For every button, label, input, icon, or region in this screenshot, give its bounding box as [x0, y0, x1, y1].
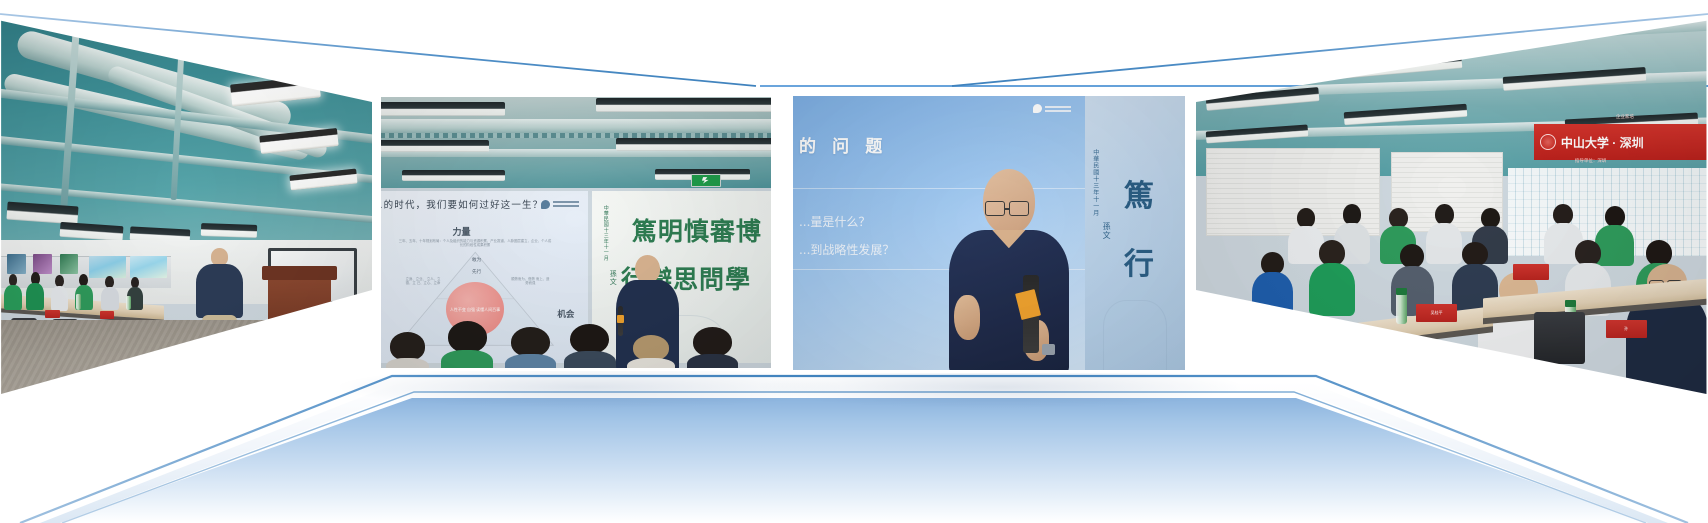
poster: [7, 254, 26, 274]
gallery-slide-3[interactable]: 的 问 题 ...量是什么？ ...到战略性发展？ 中華民國十三年十一月 篤 行…: [790, 93, 1188, 373]
audience-person: [100, 276, 119, 310]
ceiling-lamp: [596, 98, 774, 112]
podium: [268, 272, 331, 360]
calligraphy-signature: 孫文: [1101, 222, 1112, 240]
nameplate: [45, 310, 60, 318]
slide-logo: [1033, 104, 1071, 113]
slide-logo: [541, 200, 579, 209]
glasses-bridge-icon: [1004, 208, 1010, 210]
chair: [1360, 336, 1411, 392]
diagram-top-label: 力量: [452, 225, 470, 238]
audience-head: [627, 335, 675, 371]
audience-person: [1309, 240, 1355, 316]
gesturing-hand: [954, 295, 980, 340]
logo-bars-icon: [553, 201, 579, 207]
calligraphy-vertical-text: 中華民國十三年十一月: [603, 205, 610, 261]
wristwatch: [1042, 344, 1055, 354]
audience-person: [1252, 252, 1293, 320]
instructor: [193, 248, 245, 384]
calligraphy-line-1: 篤明慎審博: [632, 212, 762, 248]
wall-mural: [89, 256, 126, 278]
audience-head: [687, 327, 738, 371]
calligraphy-line-2: 行: [1124, 239, 1155, 283]
audience-seated-photo: 中山大学 · 深圳 企业家培 指导单位：深圳: [1196, 8, 1708, 408]
ceiling-lamp: [378, 102, 505, 116]
podium-top: [262, 266, 336, 280]
carpet-floor: [0, 320, 372, 408]
diagram-right-small: 顺势而为、借势 而上、造势而强: [511, 277, 550, 286]
slide-heading: 的 问 题: [799, 132, 887, 157]
ceiling-lamp: [378, 140, 489, 152]
water-bottle: [126, 296, 130, 310]
classroom-wide-shot-photo: [0, 8, 372, 408]
gallery-slide-2[interactable]: ...的时代，我们要如何过好这一生？ 力量 三年、五年、十年规划布局：个人及组织…: [378, 94, 774, 371]
ceiling-lamp: [201, 223, 257, 238]
gallery-slide-1[interactable]: [0, 8, 372, 408]
poster: [33, 254, 52, 274]
logo-mark-icon: [1033, 104, 1042, 113]
water-bottle: [76, 294, 80, 310]
calligraphy-arch-outline: [1103, 300, 1167, 373]
diagram-mid-label-2: 先行: [459, 269, 495, 275]
diagram-right-label: 机会: [557, 308, 574, 320]
speaker-closeup-photo: 的 问 题 ...量是什么？ ...到战略性发展？ 中華民國十三年十一月 篤 行…: [790, 93, 1188, 373]
banner-subtitle-right: 指导单位：深圳: [1575, 158, 1607, 164]
slide-title: ...的时代，我们要如何过好这一生？: [378, 197, 543, 211]
nameplate: [1513, 264, 1549, 280]
glasses-right-icon: [1009, 201, 1029, 215]
ceiling-lamp: [616, 138, 774, 150]
bottle-cap: [1565, 300, 1576, 307]
university-seal-icon: [1540, 134, 1556, 150]
speaker: [949, 169, 1068, 373]
poster: [60, 254, 79, 274]
bottle-cap: [1283, 344, 1295, 352]
calligraphy-vertical-text: 中華民國十三年十一月: [1091, 149, 1100, 216]
diagram-mid-label-1: 敢为: [459, 257, 495, 263]
nameplate: 游小龙: [1309, 360, 1355, 380]
desk-edge: [1268, 326, 1493, 360]
slide-line-2: ...到战略性发展？: [799, 241, 894, 258]
calligraphy-line-1: 篤: [1124, 171, 1155, 215]
water-bottle: [1283, 348, 1295, 384]
audience-person: [50, 275, 69, 311]
nameplate: 吴桂平: [1416, 304, 1457, 322]
audience-person: [26, 272, 45, 310]
chair: [1534, 312, 1585, 364]
gallery-stage: ...的时代，我们要如何过好这一生？ 力量 三年、五年、十年规划布局：个人及组织…: [0, 0, 1708, 523]
speaker-at-screen-photo: ...的时代，我们要如何过好这一生？ 力量 三年、五年、十年规划布局：个人及组织…: [378, 94, 774, 371]
audience-head: [441, 321, 492, 371]
event-banner: 中山大学 · 深圳: [1534, 124, 1708, 160]
microphone-flag: [617, 315, 625, 323]
nameplate: 孙: [1606, 320, 1647, 338]
diagram-top-description: 三年、五年、十年规划布局：个人及组织的能力与资源积累、产业赛道、人脉圈层建立，企…: [398, 239, 551, 248]
glasses-left-icon: [985, 201, 1005, 215]
nameplate: [100, 311, 113, 319]
water-bottle: [1396, 292, 1407, 324]
banner-subtitle-left: 企业家培: [1616, 114, 1634, 120]
audience-head: [386, 332, 430, 371]
bottle-cap: [1396, 288, 1407, 295]
audience-head: [564, 324, 615, 371]
exit-sign: [691, 174, 721, 186]
calligraphy-wall: 中華民國十三年十一月 篤 行 孫文: [1085, 93, 1188, 373]
logo-bars-icon: [1045, 106, 1071, 112]
diagram-left-small: 立身、立业、 立人、立德，立 己、立心、立命: [404, 277, 443, 286]
slide-line-1: ...量是什么？: [799, 213, 870, 230]
audience-head: [505, 327, 556, 371]
gallery-slide-4[interactable]: 中山大学 · 深圳 企业家培 指导单位：深圳: [1196, 8, 1708, 408]
banner-title: 中山大学 · 深圳: [1561, 134, 1644, 151]
audience-person: [4, 274, 23, 310]
ceiling-lamp: [402, 170, 505, 181]
wall-mural: [130, 256, 167, 278]
panel-shadow-left: [340, 366, 840, 408]
